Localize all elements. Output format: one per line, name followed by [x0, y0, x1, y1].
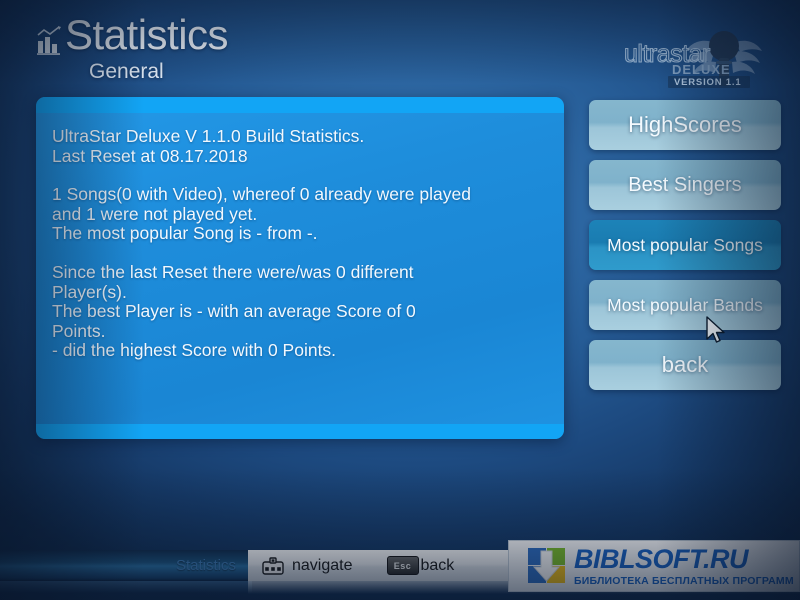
menu-button-label: back: [662, 352, 708, 378]
download-arrow-icon: [527, 546, 567, 586]
title-block: Statistics General: [65, 14, 228, 84]
menu-button-highscores[interactable]: HighScores: [589, 100, 781, 150]
bar-chart-icon: [36, 25, 62, 55]
brand-version-text: VERSION 1.1: [674, 77, 741, 88]
screen-name-label: Statistics: [176, 557, 248, 574]
dpad-icon: [262, 557, 284, 575]
hint-navigate-label: navigate: [292, 557, 353, 575]
panel-top-accent-bar: [36, 97, 564, 113]
menu-button-label: Best Singers: [628, 174, 741, 197]
statistics-line: and 1 were not played yet.: [52, 205, 550, 225]
statistics-line-gap: [52, 244, 550, 263]
menu-button-back[interactable]: back: [589, 340, 781, 390]
watermark-title: BIBLSOFT.RU: [574, 546, 794, 573]
page-title: Statistics: [65, 14, 228, 56]
watermark-subtitle: БИБЛИОТЕКА БЕСПЛАТНЫХ ПРОГРАММ: [574, 575, 794, 587]
statistics-line: - did the highest Score with 0 Points.: [52, 341, 550, 361]
hint-navigate[interactable]: navigate: [262, 557, 353, 575]
page-header: Statistics General: [36, 14, 228, 84]
statistics-line: The most popular Song is - from -.: [52, 224, 550, 244]
ultrastar-deluxe-logo: ultrastar DELUXE VERSION 1.1: [616, 18, 786, 90]
page-subtitle: General: [89, 60, 228, 84]
statistics-line: Last Reset at 08.17.2018: [52, 147, 550, 167]
statistics-line: Player(s).: [52, 283, 550, 303]
panel-bottom-accent-bar: [36, 424, 564, 439]
statistics-text-body: UltraStar Deluxe V 1.1.0 Build Statistic…: [52, 127, 550, 361]
brand-edition-text: DELUXE: [672, 62, 731, 77]
statistics-line: The best Player is - with an average Sco…: [52, 302, 550, 322]
menu-button-label: HighScores: [628, 112, 742, 138]
menu-button-most-popular-songs[interactable]: Most popular Songs: [589, 220, 781, 270]
hint-back[interactable]: Esc back: [387, 556, 455, 575]
menu-button-label: Most popular Songs: [607, 235, 763, 256]
statistics-line: Points.: [52, 322, 550, 342]
statistics-line: Since the last Reset there were/was 0 di…: [52, 263, 550, 283]
statistics-panel: UltraStar Deluxe V 1.1.0 Build Statistic…: [36, 97, 564, 439]
watermark-texts: BIBLSOFT.RU БИБЛИОТЕКА БЕСПЛАТНЫХ ПРОГРА…: [574, 546, 794, 587]
screen-name-plate: Statistics: [0, 550, 248, 581]
statistics-line: 1 Songs(0 with Video), whereof 0 already…: [52, 185, 550, 205]
statistics-line-gap: [52, 166, 550, 185]
statistics-line: UltraStar Deluxe V 1.1.0 Build Statistic…: [52, 127, 550, 147]
biblsoft-watermark: BIBLSOFT.RU БИБЛИОТЕКА БЕСПЛАТНЫХ ПРОГРА…: [508, 540, 800, 592]
ultrastar-statistics-screen: Statistics General ultrastar DELUXE VERS…: [0, 0, 800, 600]
menu-button-most-popular-bands[interactable]: Most popular Bands: [589, 280, 781, 330]
menu-button-best-singers[interactable]: Best Singers: [589, 160, 781, 210]
hint-back-label: back: [421, 557, 455, 575]
menu-button-label: Most popular Bands: [607, 295, 763, 316]
statistics-menu: HighScoresBest SingersMost popular Songs…: [589, 100, 781, 400]
left-plate-reflection: [0, 581, 252, 593]
esc-key-icon: Esc: [387, 556, 419, 575]
